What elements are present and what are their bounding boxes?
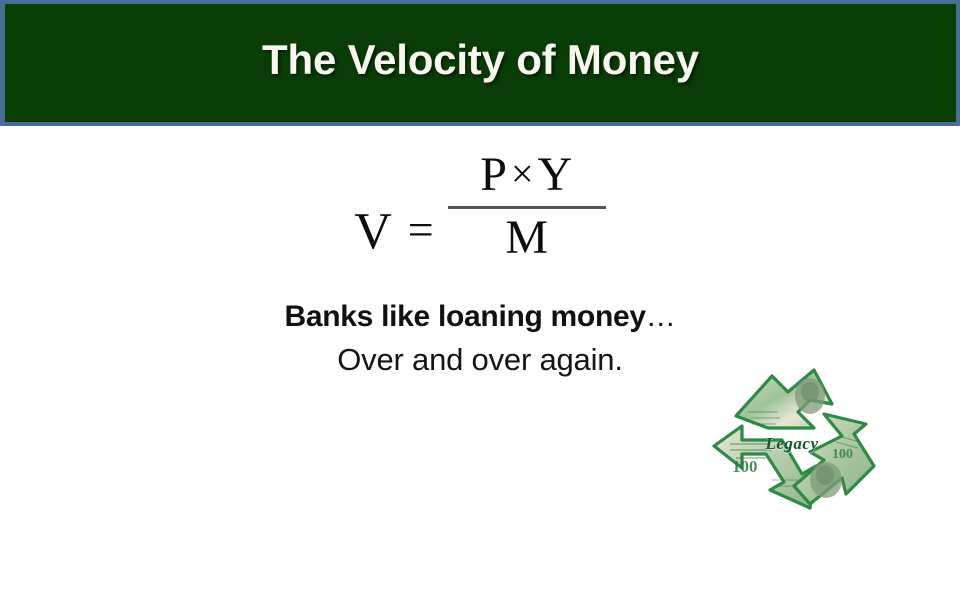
formula-denominator-m: M xyxy=(499,211,554,265)
caption-line-1-text: Banks like loaning money xyxy=(285,300,646,333)
recycle-arrow-top xyxy=(736,370,832,428)
formula-term-y: Y xyxy=(538,148,574,201)
caption-ellipsis: … xyxy=(646,300,676,333)
formula-term-p: P xyxy=(480,148,508,201)
formula-numerator: P×Y xyxy=(474,148,579,202)
svg-text:100: 100 xyxy=(732,457,758,476)
velocity-formula: V = P×Y M xyxy=(0,148,960,265)
formula-equals-sign: = xyxy=(408,207,434,253)
formula-fraction: P×Y M xyxy=(448,148,606,265)
fraction-bar xyxy=(448,206,606,209)
caption-line-1: Banks like loaning money… xyxy=(0,296,960,338)
page-title: The Velocity of Money xyxy=(262,36,699,84)
svg-text:100: 100 xyxy=(832,447,853,462)
recycling-money-icon: 100 100 Legacy xyxy=(706,362,878,530)
title-banner: The Velocity of Money xyxy=(0,0,960,126)
formula-variable-v: V xyxy=(354,206,392,258)
multiply-icon: × xyxy=(508,151,538,196)
